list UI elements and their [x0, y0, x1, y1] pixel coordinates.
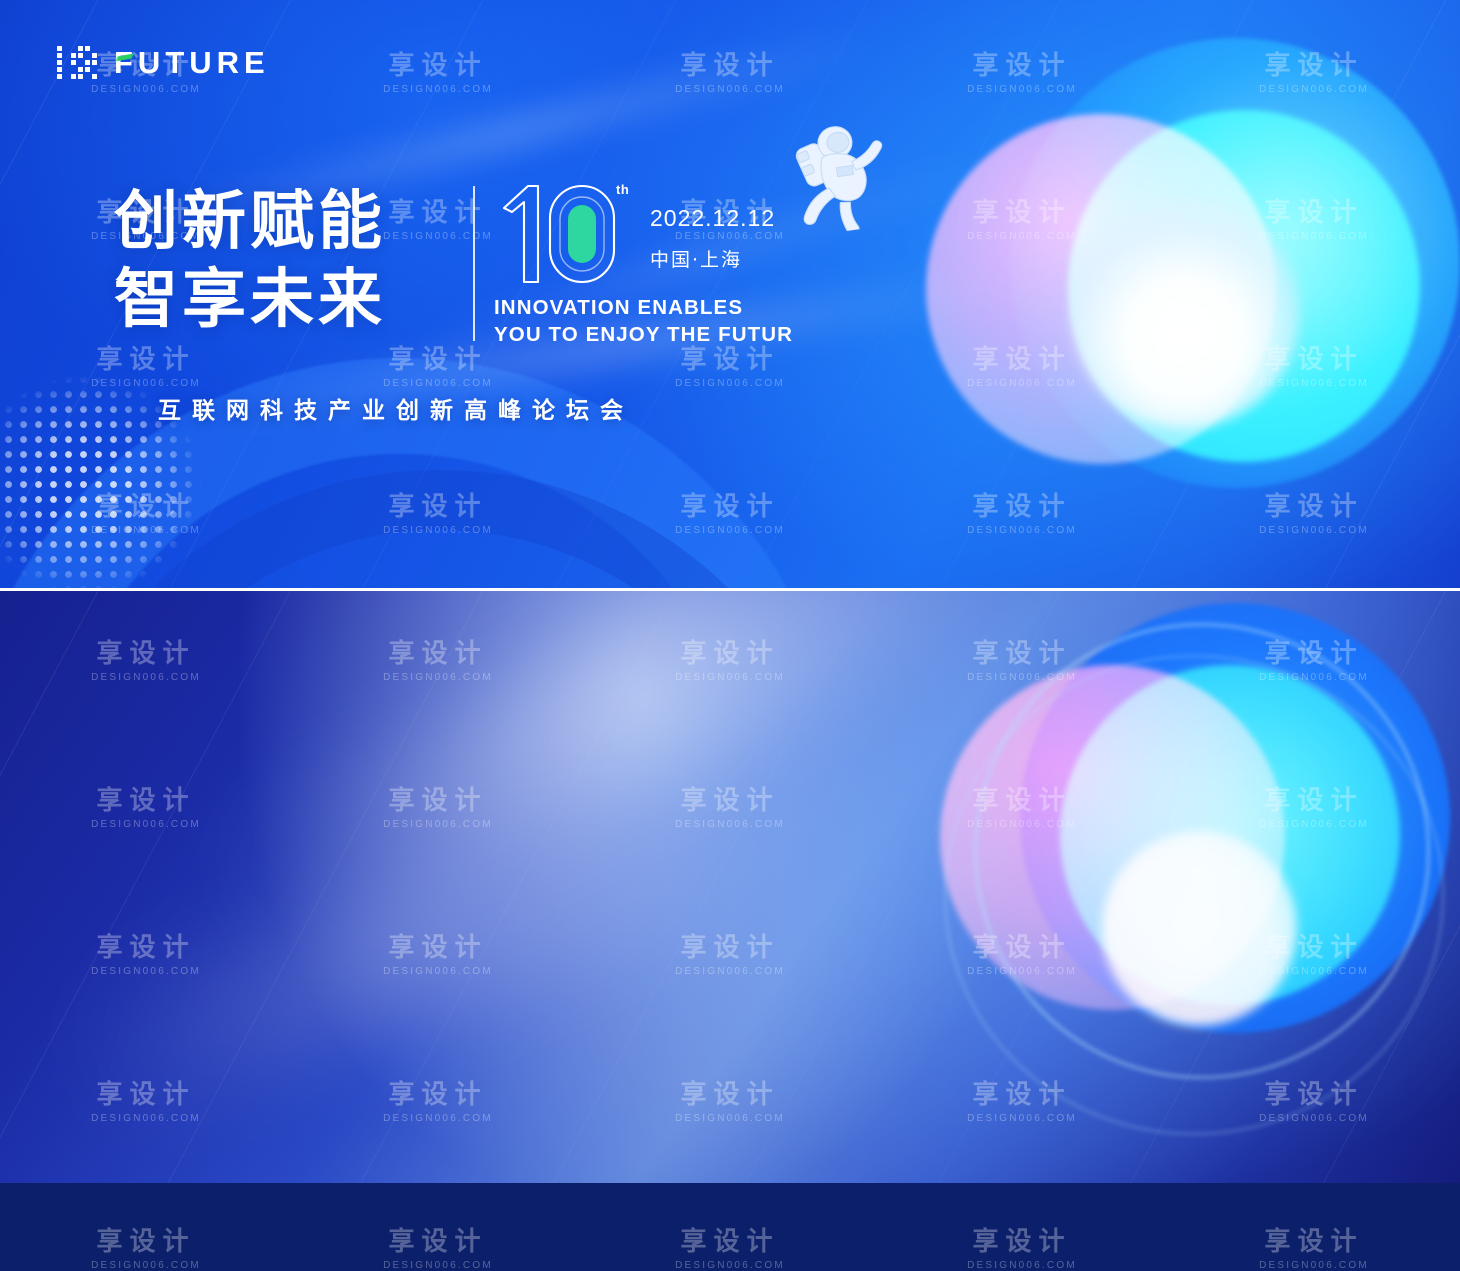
brand-wordmark: FUTURE: [114, 47, 270, 78]
watermark-chinese: 享设计: [675, 1228, 785, 1258]
brand-wordmark-text: FUTURE: [114, 45, 270, 80]
event-subtitle-top: 互联网科技产业创新高峰论坛会: [158, 391, 634, 425]
watermark-chinese: 享设计: [1259, 1228, 1369, 1258]
watermark-chinese: 享设计: [91, 1228, 201, 1258]
vertical-divider: [473, 186, 475, 341]
event-date: 2022.12.12: [650, 206, 775, 231]
panel-content-bottom: FUTURE 创新赋能 智享未来 th: [0, 591, 1460, 1183]
anniversary-10-mark: th: [494, 178, 624, 290]
banner-panel-bottom: FUTURE 创新赋能 智享未来 th: [0, 591, 1460, 1183]
english-line-1: INNOVATION ENABLES: [494, 294, 793, 321]
banner-stage: FUTURE 创新赋能 智享未来 th: [0, 0, 1460, 1183]
anniversary-row: th 2022.12.12 中国·上海: [494, 178, 793, 290]
event-meta-top: 2022.12.12 中国·上海: [650, 178, 775, 272]
watermark-cell: 享设计DESIGN006.COM: [967, 1228, 1077, 1271]
banner-panel-top: FUTURE 创新赋能 智享未来 th: [0, 0, 1460, 588]
pixel-grid-logo-icon: [57, 46, 97, 79]
brand-logo-top[interactable]: FUTURE: [57, 46, 270, 79]
headline-top: 创新赋能 智享未来: [114, 183, 386, 339]
english-tagline-top: INNOVATION ENABLES YOU TO ENJOY THE FUTU…: [494, 294, 793, 348]
watermark-cell: 享设计DESIGN006.COM: [383, 1228, 493, 1271]
watermark-cell: 享设计DESIGN006.COM: [675, 1228, 785, 1271]
watermark-cell: 享设计DESIGN006.COM: [91, 1228, 201, 1271]
panel-separator: [0, 588, 1460, 591]
english-line-2: YOU TO ENJOY THE FUTUR: [494, 321, 793, 348]
event-location: 中国·上海: [650, 245, 775, 272]
watermark-cell: 享设计DESIGN006.COM: [1259, 1228, 1369, 1271]
watermark-english: DESIGN006.COM: [967, 1260, 1077, 1271]
headline-line-2: 智享未来: [114, 261, 386, 339]
watermark-chinese: 享设计: [967, 1228, 1077, 1258]
watermark-english: DESIGN006.COM: [1259, 1260, 1369, 1271]
watermark-english: DESIGN006.COM: [91, 1260, 201, 1271]
anniversary-block-top: th 2022.12.12 中国·上海 INNOVATION ENABLES Y…: [494, 178, 793, 348]
anniversary-superscript: th: [616, 182, 629, 197]
panel-content-top: FUTURE 创新赋能 智享未来 th: [0, 0, 1460, 588]
watermark-chinese: 享设计: [383, 1228, 493, 1258]
watermark-english: DESIGN006.COM: [675, 1260, 785, 1271]
watermark-english: DESIGN006.COM: [383, 1260, 493, 1271]
headline-line-1: 创新赋能: [114, 183, 386, 261]
